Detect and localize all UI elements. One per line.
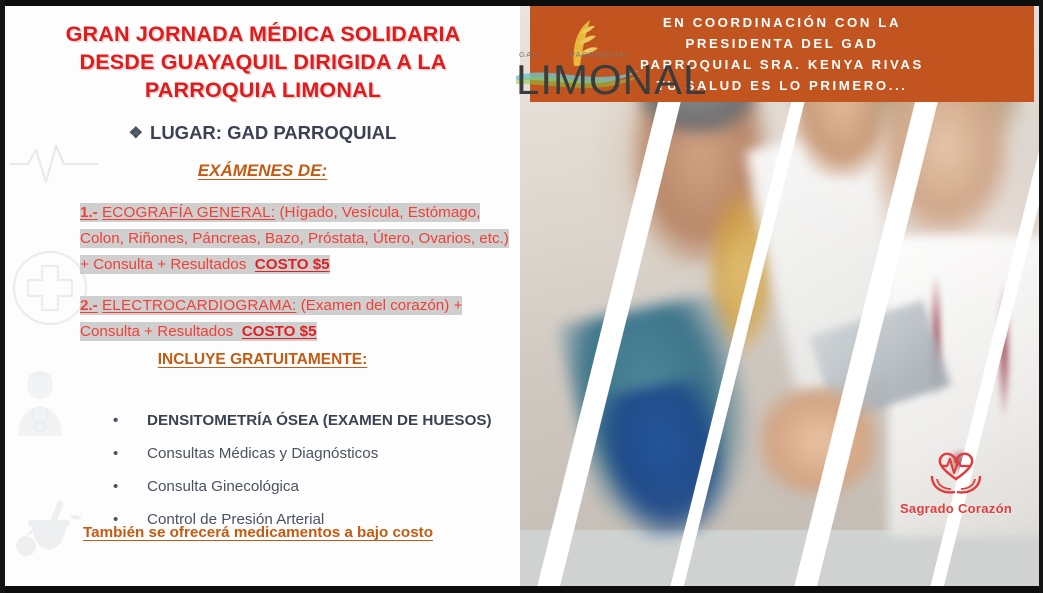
exam-item-2: 2.- ELECTROCARDIOGRAMA: (Examen del cora… xyxy=(80,293,588,345)
exam-1-price: COSTO $5 xyxy=(255,256,330,273)
list-item: Consultas Médicas y Diagnósticos xyxy=(105,437,565,470)
diamond-bullet-icon: ❖ xyxy=(129,125,143,142)
exam-2-includes: Consulta + Resultados xyxy=(80,323,233,340)
place-text: LUGAR: GAD PARROQUIAL xyxy=(150,122,396,143)
place-line: ❖LUGAR: GAD PARROQUIAL xyxy=(5,122,520,144)
exam-2-name: ELECTROCARDIOGRAMA: xyxy=(102,297,297,314)
exam-1-number: 1.- xyxy=(80,204,98,221)
exam-2-number: 2.- xyxy=(80,297,98,314)
exam-item-1: 1.- ECOGRAFÍA GENERAL: (Hígado, Vesícula… xyxy=(80,200,588,278)
exam-2-price: COSTO $5 xyxy=(242,323,317,340)
limonal-logo-word: LIMONAL xyxy=(516,58,707,102)
frame-edge-bottom xyxy=(0,586,1043,593)
frame-edge-left xyxy=(0,0,5,593)
frame-edge-top xyxy=(0,0,1043,6)
exam-1-detail-line-1: (Hígado, Vesícula, Estómago, xyxy=(279,204,480,221)
title-line-3: PARROQUIA LIMONAL xyxy=(145,78,381,102)
banner-line-2: PRESIDENTA DEL GAD xyxy=(685,36,878,51)
exam-1-includes: + Consulta + Resultados xyxy=(80,256,246,273)
exam-2-detail-line-1: (Examen del corazón) + xyxy=(301,297,463,314)
poster-title: GRAN JORNADA MÉDICA SOLIDARIA DESDE GUAY… xyxy=(13,20,513,104)
sagrado-corazon-label: Sagrado Corazón xyxy=(876,501,1036,516)
limonal-logo: GAD PARROQUIAL LIMONAL xyxy=(512,14,672,109)
exam-1-name: ECOGRAFÍA GENERAL: xyxy=(102,204,275,221)
title-line-1: GRAN JORNADA MÉDICA SOLIDARIA xyxy=(66,22,461,46)
sagrado-corazon-logo: Sagrado Corazón xyxy=(876,446,1036,526)
free-services-list: DENSITOMETRÍA ÓSEA (EXAMEN DE HUESOS) Co… xyxy=(65,404,565,536)
content-panel: GRAN JORNADA MÉDICA SOLIDARIA DESDE GUAY… xyxy=(5,6,520,586)
medicines-note: También se ofrecerá medicamentos a bajo … xyxy=(83,524,433,541)
exams-heading: EXÁMENES DE: xyxy=(5,161,520,181)
poster: EN COORDINACIÓN CON LA PRESIDENTA DEL GA… xyxy=(0,0,1043,593)
free-section-heading: INCLUYE GRATUITAMENTE: xyxy=(5,351,520,369)
heart-hands-ecg-icon xyxy=(927,446,985,498)
banner-line-1: EN COORDINACIÓN CON LA xyxy=(663,15,901,30)
exam-1-detail-line-2: Colon, Riñones, Páncreas, Bazo, Próstata… xyxy=(80,229,509,248)
list-item: DENSITOMETRÍA ÓSEA (EXAMEN DE HUESOS) xyxy=(105,404,565,437)
title-line-2: DESDE GUAYAQUIL DIRIGIDA A LA xyxy=(80,50,447,74)
list-item: Consulta Ginecológica xyxy=(105,470,565,503)
frame-edge-right xyxy=(1039,0,1043,593)
